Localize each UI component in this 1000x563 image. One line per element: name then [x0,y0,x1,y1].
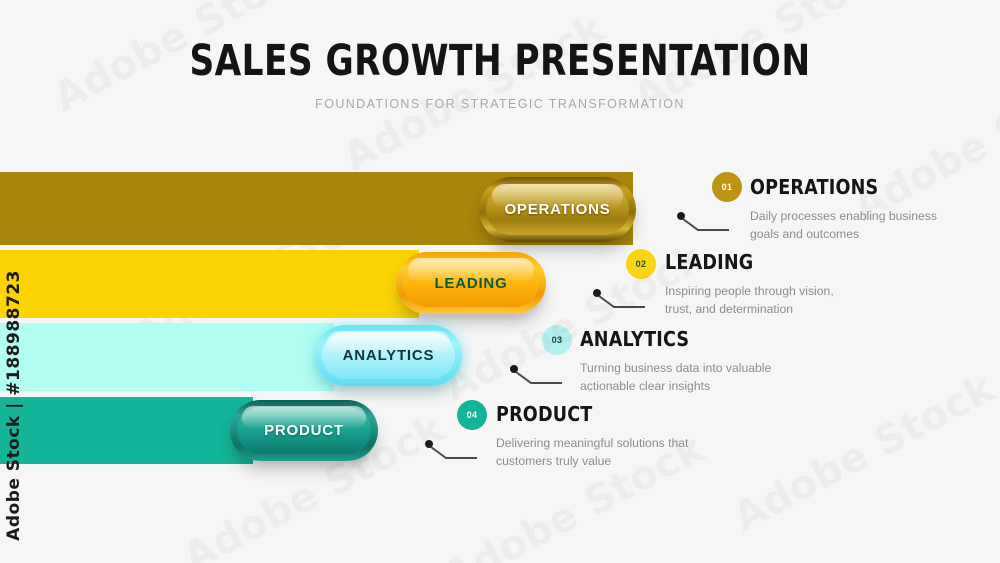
pill-button-leading[interactable]: LEADING [396,252,546,314]
pill-label-analytics: ANALYTICS [343,347,435,364]
bar-product [0,397,253,464]
info-heading-analytics: ANALYTICS [580,327,752,351]
connector-line-product [420,438,480,463]
info-description-product: Delivering meaningful solutions that cus… [496,435,691,470]
infographic-slide: Adobe Stock Adobe Stock Adobe Stock Adob… [0,0,1000,563]
info-block-analytics: ANALYTICS Turning business data into val… [580,327,775,395]
info-description-analytics: Turning business data into valuable acti… [580,360,775,395]
connector-line-operations [672,210,732,235]
step-badge-02: 02 [626,249,656,279]
bar-analytics [0,323,334,391]
info-block-leading: LEADING Inspiring people through vision,… [665,250,860,318]
pill-label-operations: OPERATIONS [504,201,610,218]
info-description-leading: Inspiring people through vision, trust, … [665,283,860,318]
connector-line-leading [588,287,648,312]
page-subtitle: FOUNDATIONS FOR STRATEGIC TRANSFORMATION [0,97,1000,111]
bar-leading [0,250,419,318]
pill-button-product[interactable]: PRODUCT [230,400,378,461]
page-title: SALES GROWTH PRESENTATION [100,40,900,83]
info-block-product: PRODUCT Delivering meaningful solutions … [496,402,691,470]
info-description-operations: Daily processes enabling business goals … [750,208,945,243]
pill-button-analytics[interactable]: ANALYTICS [315,325,462,386]
info-heading-leading: LEADING [665,250,837,274]
slide-header: SALES GROWTH PRESENTATION FOUNDATIONS FO… [0,40,1000,111]
connector-line-analytics [505,363,565,388]
step-badge-03: 03 [542,325,572,355]
step-badge-01: 01 [712,172,742,202]
info-block-operations: OPERATIONS Daily processes enabling busi… [750,175,945,243]
pill-label-leading: LEADING [434,275,507,292]
pill-button-operations[interactable]: OPERATIONS [479,177,636,242]
step-badge-04: 04 [457,400,487,430]
stock-watermark-label: Adobe Stock | #188988723 [4,270,24,541]
pill-label-product: PRODUCT [264,422,344,439]
info-heading-product: PRODUCT [496,402,668,426]
info-heading-operations: OPERATIONS [750,175,922,199]
